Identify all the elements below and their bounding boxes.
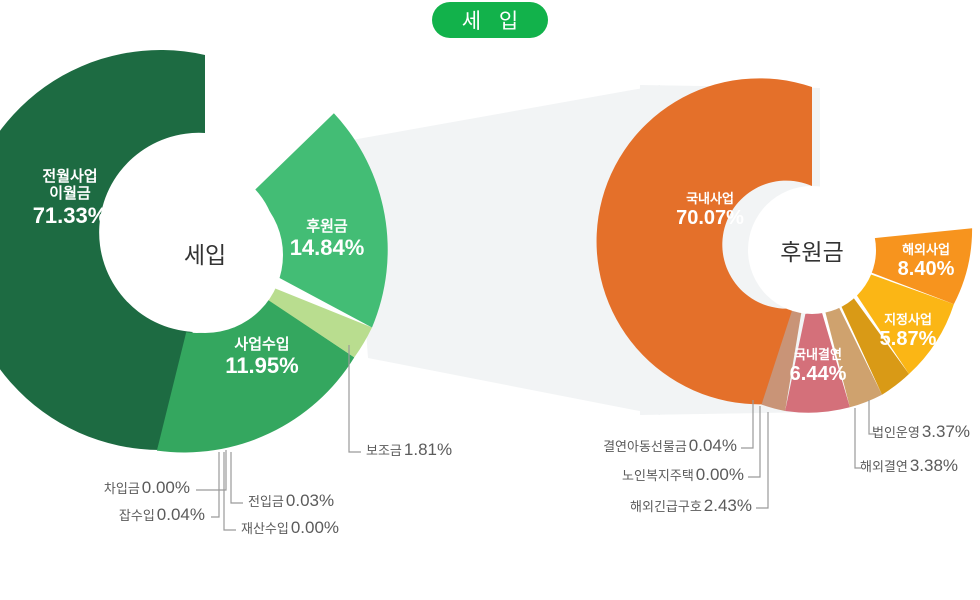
- callout-subsidy: 보조금1.81%: [366, 440, 452, 460]
- callout-corporate-operation-name: 법인운영: [872, 425, 920, 440]
- callout-borrowing: 차입금0.00%: [60, 478, 190, 498]
- callout-overseas-relief-name: 해외긴급구호: [630, 499, 702, 514]
- leader-transfer-income: [231, 452, 243, 503]
- leader-senior-housing: [748, 406, 760, 477]
- callout-transfer-income-name: 전입금: [248, 494, 284, 509]
- callout-overseas-relief: 해외긴급구호2.43%: [565, 496, 752, 516]
- callout-overseas-sponsorship-name: 해외결연: [860, 459, 908, 474]
- left-donut-center-label: 세입: [145, 236, 265, 270]
- callout-property-income-pct: 0.00%: [291, 518, 339, 537]
- callout-child-gift: 결연아동선물금0.04%: [545, 436, 737, 456]
- callout-borrowing-pct: 0.00%: [142, 478, 190, 497]
- right-donut-center-label: 후원금: [752, 233, 872, 267]
- leader-misc-income: [211, 452, 219, 517]
- callout-misc-income-pct: 0.04%: [157, 505, 205, 524]
- callout-overseas-relief-pct: 2.43%: [704, 496, 752, 515]
- page-title: 세 입: [432, 2, 548, 38]
- callout-borrowing-name: 차입금: [104, 481, 140, 496]
- callout-property-income: 재산수입0.00%: [241, 518, 339, 538]
- callout-subsidy-pct: 1.81%: [404, 440, 452, 459]
- callout-overseas-sponsorship: 해외결연3.38%: [860, 456, 958, 476]
- right-leader-lines: [741, 400, 875, 508]
- callout-overseas-sponsorship-pct: 3.38%: [910, 456, 958, 475]
- infographic-stage: 세 입 전월사업 이월금 71.33% 후원금 14.84% 사업수입 11.9…: [0, 0, 980, 600]
- callout-senior-housing: 노인복지주택0.00%: [560, 465, 744, 485]
- callout-subsidy-name: 보조금: [366, 443, 402, 458]
- callout-misc-income: 잡수입0.04%: [72, 505, 205, 525]
- callout-corporate-operation: 법인운영3.37%: [872, 422, 970, 442]
- callout-corporate-operation-pct: 3.37%: [922, 422, 970, 441]
- leader-overseas-relief: [756, 412, 768, 508]
- callout-senior-housing-pct: 0.00%: [696, 465, 744, 484]
- callout-misc-income-name: 잡수입: [119, 508, 155, 523]
- callout-senior-housing-name: 노인복지주택: [622, 468, 694, 483]
- callout-transfer-income-pct: 0.03%: [286, 491, 334, 510]
- callout-transfer-income: 전입금0.03%: [248, 491, 334, 511]
- callout-child-gift-pct: 0.04%: [689, 436, 737, 455]
- leader-borrowing: [196, 450, 226, 490]
- callout-property-income-name: 재산수입: [241, 521, 289, 536]
- callout-child-gift-name: 결연아동선물금: [603, 439, 687, 454]
